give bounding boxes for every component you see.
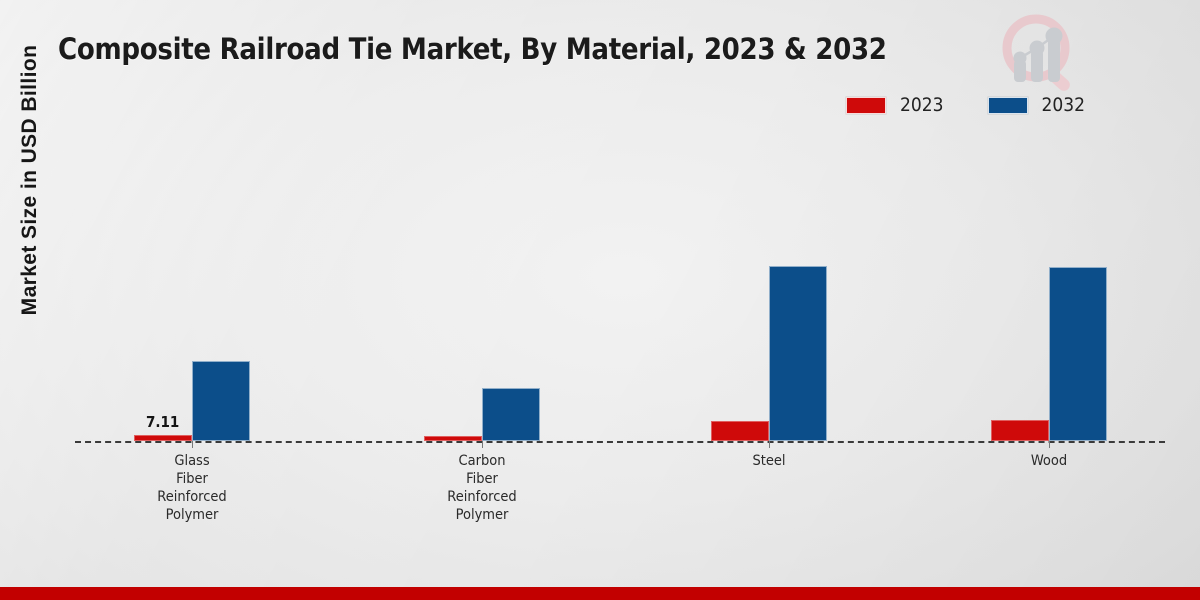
x-axis-tick-0 [192, 441, 193, 448]
y-axis-title: Market Size in USD Billion [18, 10, 42, 350]
x-axis-tick-3 [1049, 441, 1050, 448]
chart-canvas: Composite Railroad Tie Market, By Materi… [0, 0, 1200, 600]
x-axis-label-line: Reinforced [412, 488, 552, 506]
x-axis-baseline [75, 441, 1165, 443]
chart-title: Composite Railroad Tie Market, By Materi… [58, 32, 887, 66]
x-axis-label-line: Steel [699, 452, 839, 470]
bar-2023-glass-fiber-reinforced-polymer[interactable] [134, 435, 192, 441]
legend-swatch-2023 [846, 97, 886, 114]
x-axis-label-line: Fiber [412, 470, 552, 488]
bar-2032-wood[interactable] [1049, 267, 1107, 441]
bar-2032-glass-fiber-reinforced-polymer[interactable] [192, 361, 250, 441]
bar-value-label-glass-2023: 7.11 [146, 413, 179, 431]
bar-2023-wood[interactable] [991, 420, 1049, 441]
legend-label-2023: 2023 [900, 94, 944, 116]
x-axis-tick-1 [482, 441, 483, 448]
x-axis-label-line: Fiber [122, 470, 262, 488]
bar-2032-carbon-fiber-reinforced-polymer[interactable] [482, 388, 540, 441]
legend-label-2032: 2032 [1042, 94, 1086, 116]
x-axis-label-line: Wood [979, 452, 1119, 470]
x-axis-label-steel: Steel [699, 452, 839, 470]
chart-legend: 2023 2032 [846, 94, 1085, 116]
bar-2023-carbon-fiber-reinforced-polymer[interactable] [424, 436, 482, 441]
x-axis-label-glass-fiber-reinforced-polymer: Glass Fiber Reinforced Polymer [122, 452, 262, 524]
bar-2032-steel[interactable] [769, 266, 827, 441]
x-axis-label-line: Polymer [412, 506, 552, 524]
footer-accent-bar [0, 587, 1200, 600]
watermark-logo [995, 12, 1090, 104]
legend-swatch-2032 [988, 97, 1028, 114]
x-axis-label-line: Polymer [122, 506, 262, 524]
bar-2023-steel[interactable] [711, 421, 769, 441]
legend-item-2023[interactable]: 2023 [846, 94, 944, 116]
x-axis-label-carbon-fiber-reinforced-polymer: Carbon Fiber Reinforced Polymer [412, 452, 552, 524]
legend-item-2032[interactable]: 2032 [988, 94, 1086, 116]
x-axis-label-line: Glass [122, 452, 262, 470]
x-axis-tick-2 [769, 441, 770, 448]
x-axis-label-line: Carbon [412, 452, 552, 470]
x-axis-label-wood: Wood [979, 452, 1119, 470]
x-axis-label-line: Reinforced [122, 488, 262, 506]
